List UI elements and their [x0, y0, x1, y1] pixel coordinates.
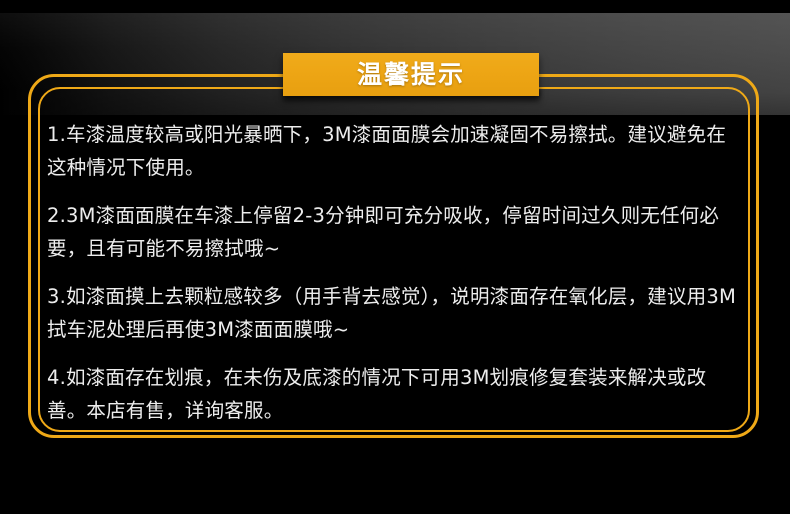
tips-list: 1.车漆温度较高或阳光暴晒下，3M漆面面膜会加速凝固不易擦拭。建议避免在这种情况…	[47, 118, 742, 427]
title-banner: 温馨提示	[283, 53, 539, 96]
tips-banner-graphic: 温馨提示 1.车漆温度较高或阳光暴晒下，3M漆面面膜会加速凝固不易擦拭。建议避免…	[0, 0, 790, 514]
list-item: 4.如漆面存在划痕，在未伤及底漆的情况下可用3M划痕修复套装来解决或改善。本店有…	[47, 361, 742, 427]
list-item: 2.3M漆面面膜在车漆上停留2-3分钟即可充分吸收，停留时间过久则无任何必要，且…	[47, 199, 742, 265]
list-item: 1.车漆温度较高或阳光暴晒下，3M漆面面膜会加速凝固不易擦拭。建议避免在这种情况…	[47, 118, 742, 184]
list-item: 3.如漆面摸上去颗粒感较多（用手背去感觉），说明漆面存在氧化层，建议用3M拭车泥…	[47, 280, 742, 346]
banner-title-text: 温馨提示	[357, 62, 465, 87]
